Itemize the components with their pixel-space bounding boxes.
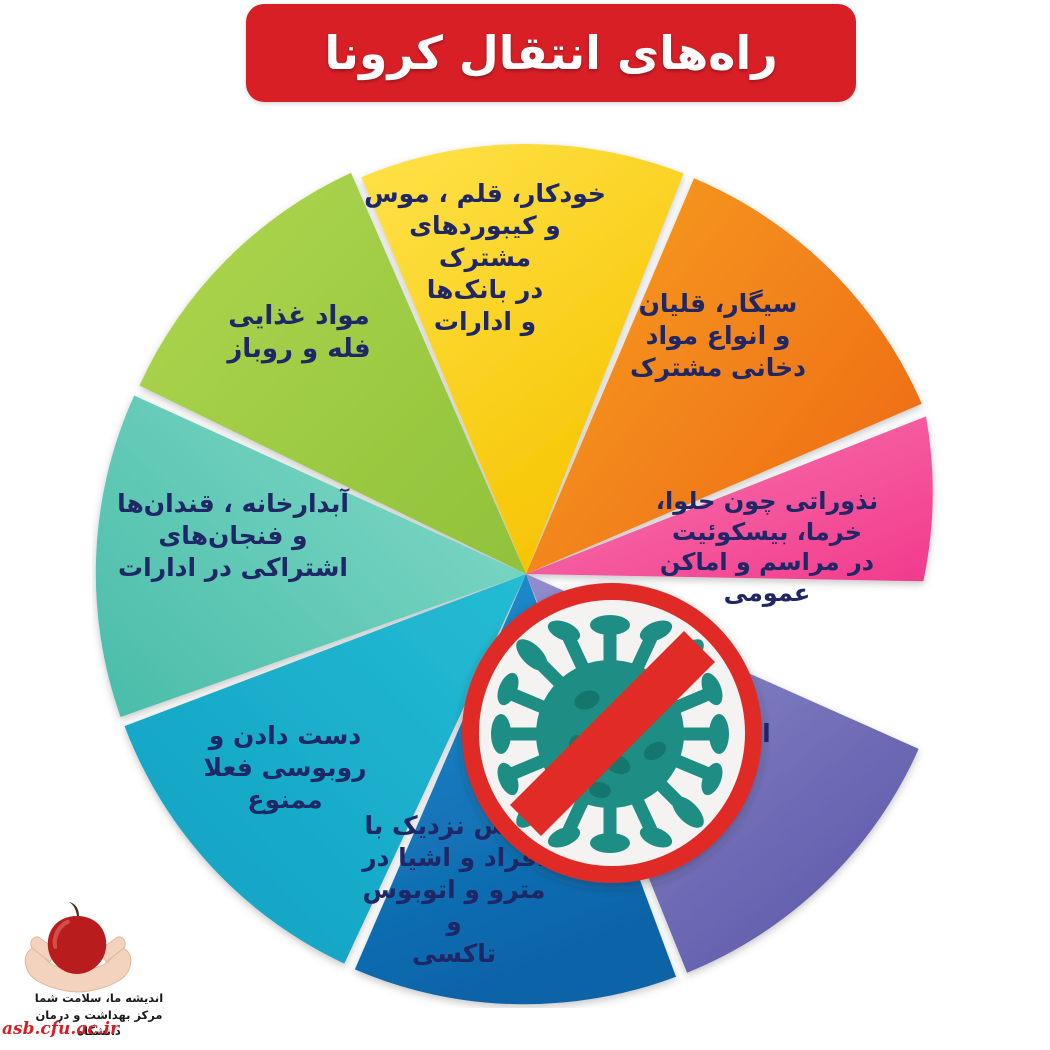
page-title: راه‌های انتقال کرونا	[324, 26, 777, 80]
hands-holding-apple-icon	[12, 898, 142, 994]
transmission-wheel: خودکار، قلم ، موس و کیبوردهای مشترک در ب…	[92, 140, 960, 1008]
site-watermark: asb.cfu.ac.ir	[2, 1019, 119, 1039]
watermark-text: asb.cfu.ac.ir	[2, 1019, 119, 1039]
no-virus-sign	[447, 568, 777, 898]
page-title-banner: راه‌های انتقال کرونا	[246, 4, 856, 102]
footer-line-1: اندیشه ما، سلامت شما	[4, 990, 194, 1007]
